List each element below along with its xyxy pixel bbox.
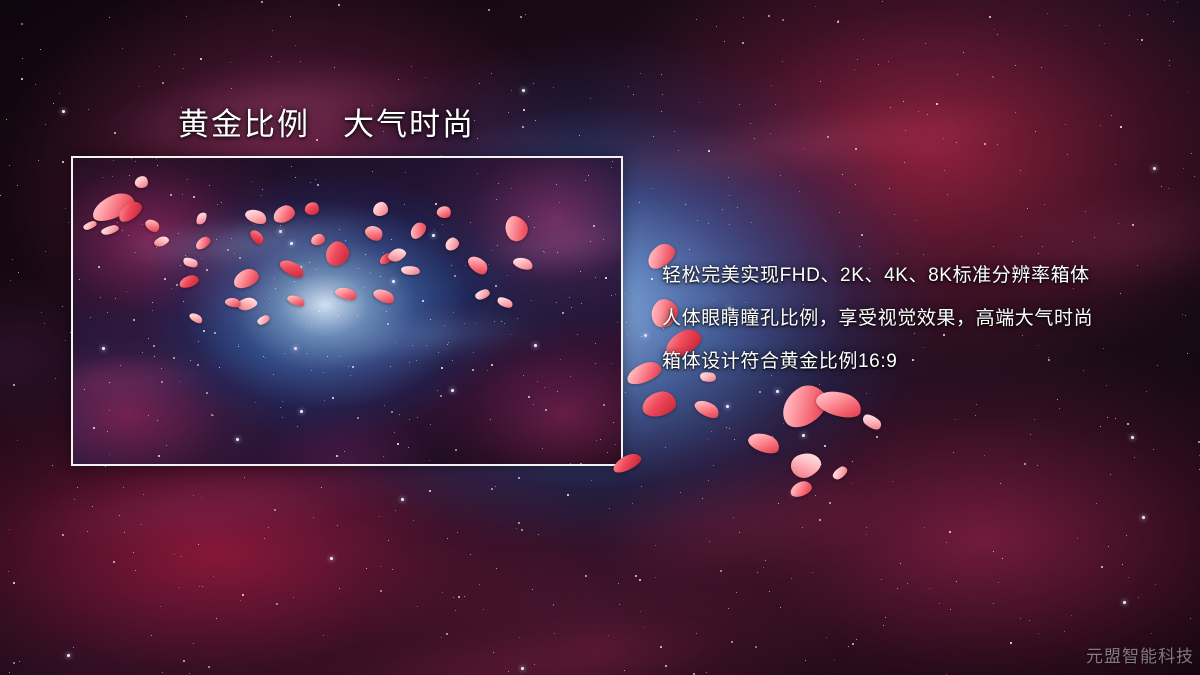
description-line-3: 箱体设计符合黄金比例16:9 [662, 340, 1162, 383]
slide-title: 黄金比例 大气时尚 [178, 99, 475, 144]
nebula-photo-wisps [71, 156, 623, 466]
product-image-frame [71, 156, 623, 466]
presentation-slide: 黄金比例 大气时尚 轻松完美实现FHD、2K、4K、8K标准分辨率箱体 人体眼睛… [0, 0, 1200, 675]
description-line-1: 轻松完美实现FHD、2K、4K、8K标准分辨率箱体 [662, 254, 1162, 297]
description-text-block: 轻松完美实现FHD、2K、4K、8K标准分辨率箱体 人体眼睛瞳孔比例，享受视觉效… [662, 254, 1162, 383]
company-watermark: 元盟智能科技 [1086, 642, 1194, 667]
description-line-2: 人体眼睛瞳孔比例，享受视觉效果，高端大气时尚 [662, 297, 1162, 340]
